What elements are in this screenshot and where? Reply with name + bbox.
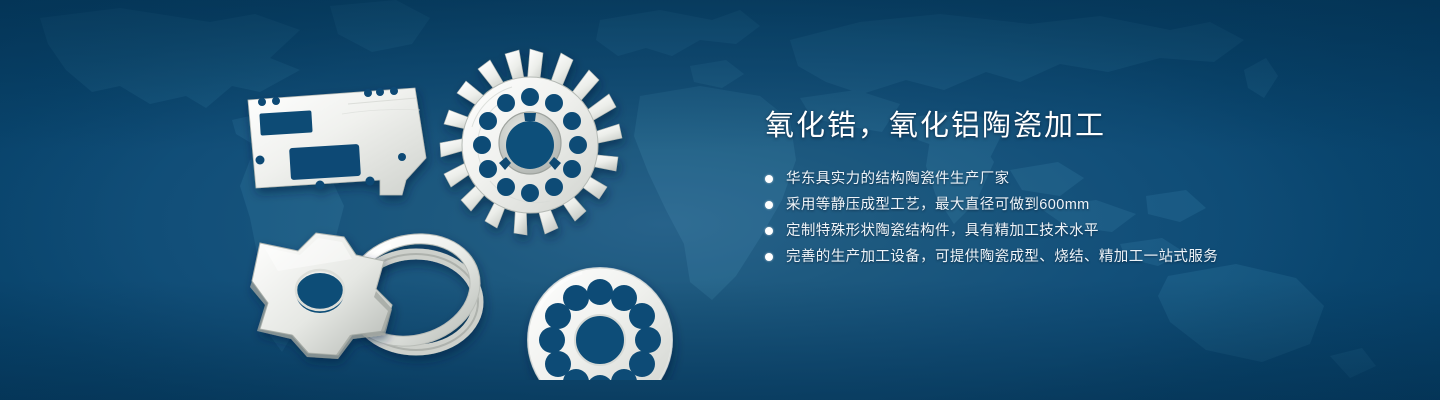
ceramic-impeller-part [440, 49, 622, 235]
page-title: 氧化锆，氧化铝陶瓷加工 [765, 108, 1385, 144]
bullet-dot-icon [765, 227, 773, 235]
list-item-label: 完善的生产加工设备，可提供陶瓷成型、烧结、精加工一站式服务 [786, 248, 1218, 266]
bullet-dot-icon [765, 175, 773, 183]
list-item: 华东具实力的结构陶瓷件生产厂家 [765, 170, 1385, 188]
ceramic-plate-part [248, 87, 426, 195]
bullet-dot-icon [765, 201, 773, 209]
feature-list: 华东具实力的结构陶瓷件生产厂家 采用等静压成型工艺，最大直径可做到600mm 定… [765, 170, 1385, 266]
ceramic-perforated-disc-part [528, 268, 672, 380]
banner-copy: 氧化锆，氧化铝陶瓷加工 华东具实力的结构陶瓷件生产厂家 采用等静压成型工艺，最大… [765, 108, 1385, 274]
list-item: 完善的生产加工设备，可提供陶瓷成型、烧结、精加工一站式服务 [765, 248, 1385, 266]
list-item-label: 华东具实力的结构陶瓷件生产厂家 [786, 170, 1010, 188]
product-photo-group [230, 40, 730, 380]
list-item: 采用等静压成型工艺，最大直径可做到600mm [765, 196, 1385, 214]
hero-banner: 氧化锆，氧化铝陶瓷加工 华东具实力的结构陶瓷件生产厂家 采用等静压成型工艺，最大… [0, 0, 1440, 400]
list-item: 定制特殊形状陶瓷结构件，具有精加工技术水平 [765, 222, 1385, 240]
list-item-label: 采用等静压成型工艺，最大直径可做到600mm [786, 196, 1090, 214]
list-item-label: 定制特殊形状陶瓷结构件，具有精加工技术水平 [786, 222, 1099, 240]
bullet-dot-icon [765, 253, 773, 261]
